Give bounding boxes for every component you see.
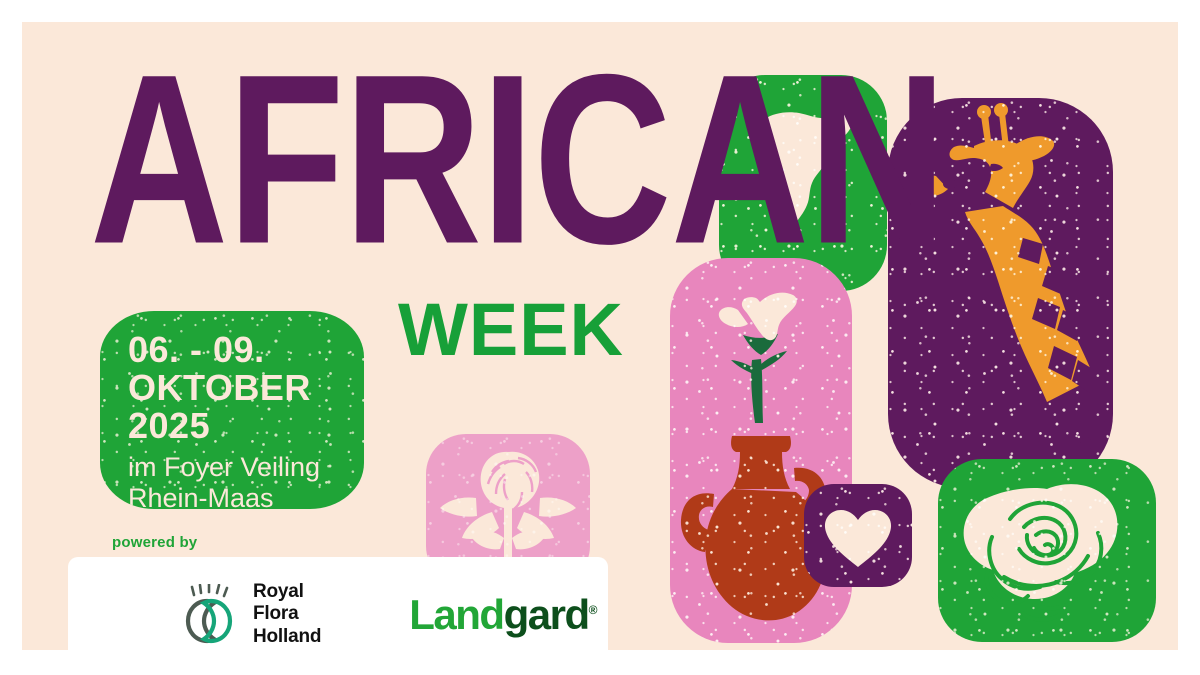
badge-venue-line2: Rhein-Maas (128, 483, 350, 509)
sponsor-logo-bar: Royal Flora Holland Landgard® (68, 557, 608, 650)
badge-year: 2025 (128, 407, 350, 445)
rfh-line-2: Flora (253, 603, 321, 625)
rfh-line-1: Royal (253, 581, 321, 603)
heart-icon (804, 484, 912, 587)
badge-venue-line1: im Foyer Veiling (128, 452, 350, 483)
landgard-logo: Landgard® (409, 591, 596, 639)
page-title: AFRICAN (90, 56, 611, 264)
powered-by-label: powered by (112, 534, 197, 551)
badge-month: OKTOBER (128, 369, 350, 407)
landgard-part-2: gard (504, 591, 589, 638)
poster-canvas: AFRICAN WEEK 06. - 09. OKTOBER 2025 im F… (22, 22, 1178, 650)
two-petals-with-rays-icon (178, 584, 240, 646)
royal-flora-holland-logo: Royal Flora Holland (178, 581, 321, 647)
heart-tile (804, 484, 912, 587)
badge-dates: 06. - 09. (128, 331, 350, 369)
event-date-badge: 06. - 09. OKTOBER 2025 im Foyer Veiling … (100, 311, 364, 509)
rfh-line-3: Holland (253, 626, 321, 648)
rose-tile (938, 459, 1156, 642)
poster-root: AFRICAN WEEK 06. - 09. OKTOBER 2025 im F… (0, 0, 1200, 675)
rose-icon (938, 459, 1156, 642)
page-subtitle: WEEK (398, 293, 624, 367)
royal-flora-holland-wordmark: Royal Flora Holland (253, 581, 321, 647)
landgard-registered-mark: ® (589, 603, 596, 617)
landgard-part-1: Land (409, 591, 503, 638)
